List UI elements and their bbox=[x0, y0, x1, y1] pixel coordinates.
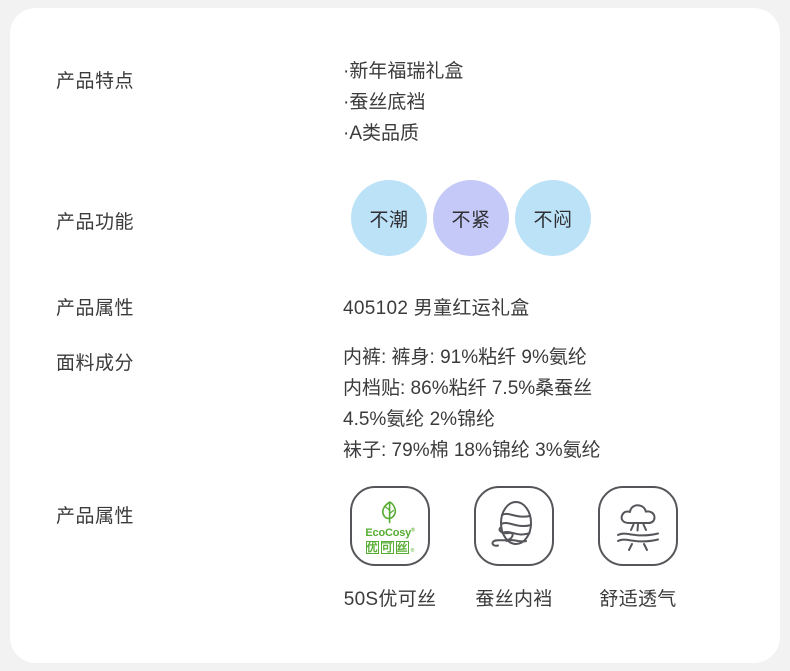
ecocosy-latin-text: EcoCosy® bbox=[365, 528, 414, 539]
spec-label-icon-attribute: 产品属性 bbox=[56, 501, 134, 528]
attribute-icon-cell-ecocosy: EcoCosy® 优可丝® 50S优可丝 bbox=[349, 486, 431, 611]
ecocosy-logo-icon: EcoCosy® 优可丝® bbox=[350, 486, 430, 566]
status-badge: 不潮 bbox=[351, 180, 427, 256]
list-item: ·新年福瑞礼盒 bbox=[343, 56, 463, 87]
list-item: 4.5%氨纶 2%锦纶 bbox=[343, 404, 601, 435]
breathable-cloud-icon bbox=[598, 486, 678, 566]
function-badge-group: 不潮 不紧 不闷 bbox=[351, 180, 591, 256]
list-item: ·A类品质 bbox=[343, 118, 463, 149]
attribute-icon-caption: 舒适透气 bbox=[599, 584, 676, 611]
spec-label-attribute: 产品属性 bbox=[56, 293, 134, 320]
cocoon-thread-icon bbox=[485, 497, 543, 555]
spec-value-attribute: 405102 男童红运礼盒 bbox=[343, 293, 530, 320]
status-badge: 不闷 bbox=[515, 180, 591, 256]
attribute-icon-caption: 50S优可丝 bbox=[344, 584, 437, 611]
list-item: 内裤: 裤身: 91%粘纤 9%氨纶 bbox=[343, 342, 601, 373]
cloud-airflow-icon bbox=[609, 497, 667, 555]
product-spec-card: 产品特点 ·新年福瑞礼盒 ·蚕丝底裆 ·A类品质 产品功能 不潮 不紧 不闷 产… bbox=[10, 8, 780, 663]
spec-label-functions: 产品功能 bbox=[56, 207, 134, 234]
attribute-icon-group: EcoCosy® 优可丝® 50S优可丝 bbox=[349, 486, 679, 611]
silk-cocoon-icon bbox=[474, 486, 554, 566]
status-badge: 不紧 bbox=[433, 180, 509, 256]
list-item: 内档贴: 86%粘纤 7.5%桑蚕丝 bbox=[343, 373, 601, 404]
attribute-icon-caption: 蚕丝内裆 bbox=[475, 584, 552, 611]
list-item: ·蚕丝底裆 bbox=[343, 87, 463, 118]
attribute-icon-cell-silk: 蚕丝内裆 bbox=[473, 486, 555, 611]
spec-label-features: 产品特点 bbox=[56, 66, 134, 93]
ecocosy-chinese-text: 优可丝® bbox=[366, 541, 415, 554]
fabric-composition-list: 内裤: 裤身: 91%粘纤 9%氨纶 内档贴: 86%粘纤 7.5%桑蚕丝 4.… bbox=[343, 342, 601, 466]
leaf-icon bbox=[377, 499, 403, 527]
attribute-icon-cell-breathable: 舒适透气 bbox=[597, 486, 679, 611]
spec-label-fabric: 面料成分 bbox=[56, 348, 134, 375]
list-item: 袜子: 79%棉 18%锦纶 3%氨纶 bbox=[343, 435, 601, 466]
feature-bullet-list: ·新年福瑞礼盒 ·蚕丝底裆 ·A类品质 bbox=[343, 56, 463, 149]
